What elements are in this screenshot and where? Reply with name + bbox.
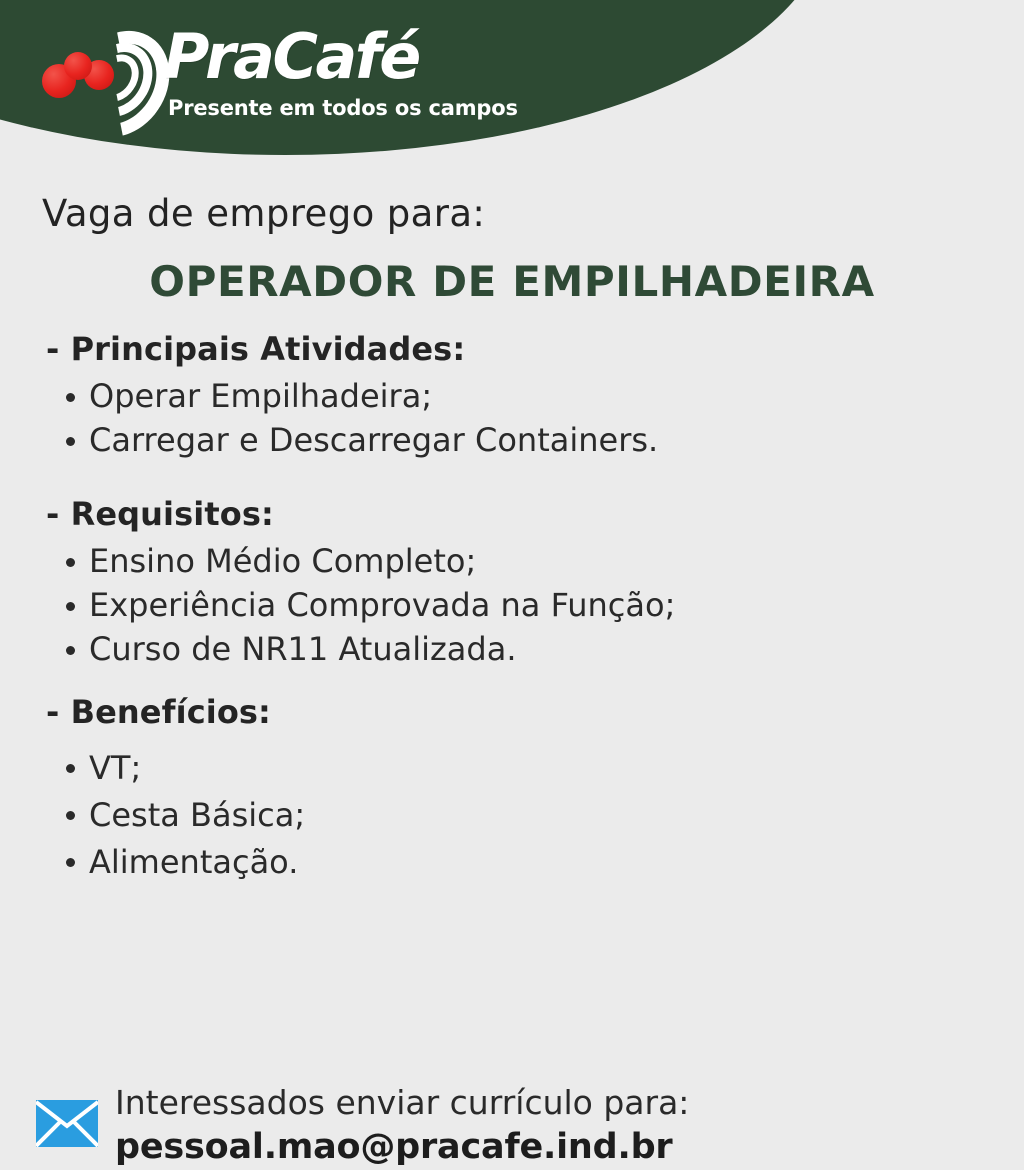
contact-block: Interessados enviar currículo para: pess… — [0, 912, 1024, 1022]
list-item: Carregar e Descarregar Containers. — [66, 418, 1024, 462]
section-requisitos: - Requisitos: Ensino Médio Completo; Exp… — [0, 495, 1024, 671]
benefits-list: VT; Cesta Básica; Alimentação. — [0, 745, 1024, 886]
logo-tagline: Presente em todos os campos — [168, 96, 518, 120]
bullet-dot-icon — [66, 437, 75, 446]
list-item: Alimentação. — [66, 839, 1024, 886]
contact-text: Interessados enviar currículo para: pess… — [115, 1082, 995, 1170]
bullet-dot-icon — [66, 646, 75, 655]
list-item-label: Curso de NR11 Atualizada. — [89, 630, 516, 668]
list-item-label: Carregar e Descarregar Containers. — [89, 421, 658, 459]
section-heading: - Principais Atividades: — [46, 330, 1024, 368]
coffee-cherry-icon-2 — [64, 52, 92, 80]
section-heading: - Benefícios: — [46, 693, 1024, 731]
section-heading: - Requisitos: — [46, 495, 1024, 533]
list-item: Experiência Comprovada na Função; — [66, 583, 1024, 627]
list-item: Operar Empilhadeira; — [66, 374, 1024, 418]
header-banner: PraCafé Presente em todos os campos — [0, 0, 1024, 175]
brand-logo: PraCafé Presente em todos os campos — [36, 22, 456, 127]
list-item-label: Cesta Básica; — [89, 796, 305, 834]
list-item-label: Ensino Médio Completo; — [89, 542, 476, 580]
bullet-dot-icon — [66, 602, 75, 611]
pracafe-logo-mark-icon — [40, 24, 170, 122]
logo-wordmark: PraCafé — [164, 26, 419, 88]
activities-list: Operar Empilhadeira; Carregar e Descarre… — [0, 374, 1024, 462]
page-title: OPERADOR DE EMPILHADEIRA — [0, 257, 1024, 306]
list-item-label: Operar Empilhadeira; — [89, 377, 432, 415]
bullet-dot-icon — [66, 393, 75, 402]
list-item-label: VT; — [89, 749, 141, 787]
bullet-dot-icon — [66, 764, 75, 773]
list-item-label: Experiência Comprovada na Função; — [89, 586, 675, 624]
list-item: VT; — [66, 745, 1024, 792]
section-beneficios: - Benefícios: VT; Cesta Básica; Alimenta… — [0, 693, 1024, 886]
list-item: Ensino Médio Completo; — [66, 539, 1024, 583]
mail-envelope-icon — [36, 1100, 98, 1147]
contact-email[interactable]: pessoal.mao@pracafe.ind.br — [115, 1124, 995, 1170]
intro-line: Vaga de emprego para: — [42, 192, 485, 235]
bullet-dot-icon — [66, 558, 75, 567]
list-item-label: Alimentação. — [89, 843, 298, 881]
requirements-list: Ensino Médio Completo; Experiência Compr… — [0, 539, 1024, 671]
contact-prompt: Interessados enviar currículo para: — [115, 1082, 995, 1124]
bullet-dot-icon — [66, 858, 75, 867]
bullet-dot-icon — [66, 811, 75, 820]
section-principais-atividades: - Principais Atividades: Operar Empilhad… — [0, 330, 1024, 462]
list-item: Curso de NR11 Atualizada. — [66, 627, 1024, 671]
list-item: Cesta Básica; — [66, 792, 1024, 839]
